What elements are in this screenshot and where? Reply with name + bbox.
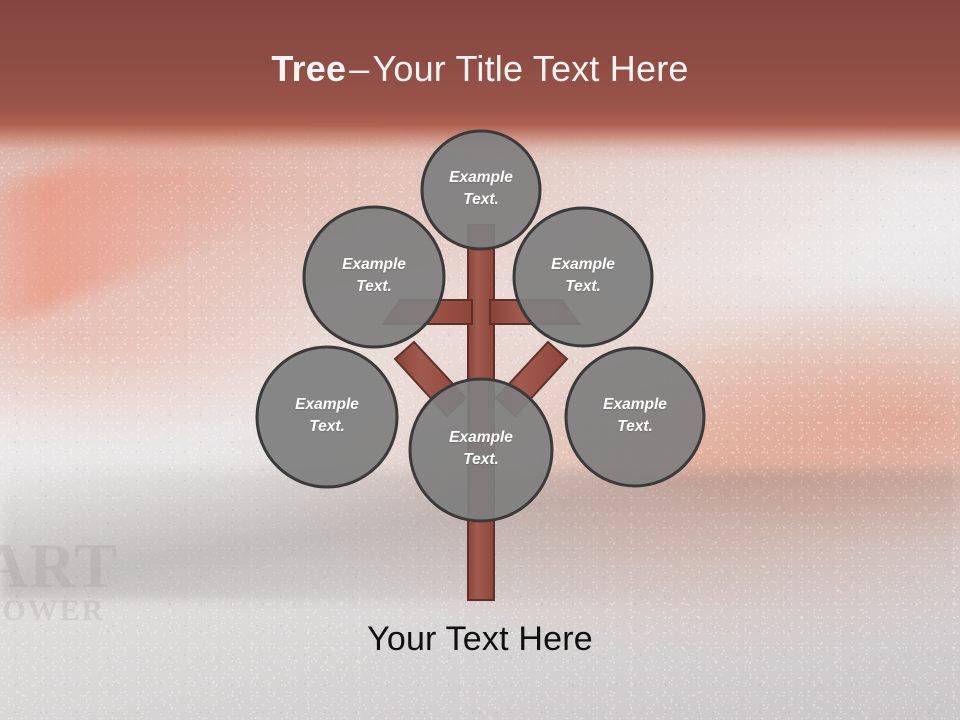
node-low-center — [410, 379, 552, 521]
node-mid-left — [304, 207, 444, 347]
footer-caption: Your Text Here — [0, 620, 960, 659]
tree-diagram-svg — [0, 0, 960, 720]
node-mid-right — [514, 208, 652, 346]
node-low-right — [566, 348, 704, 486]
tree-diagram: Example Text. Example Text. Example Text… — [0, 0, 960, 720]
node-low-left — [257, 347, 397, 487]
node-top — [422, 131, 540, 249]
slide-canvas: ART POWER Tree–Your Title Text Here — [0, 0, 960, 720]
